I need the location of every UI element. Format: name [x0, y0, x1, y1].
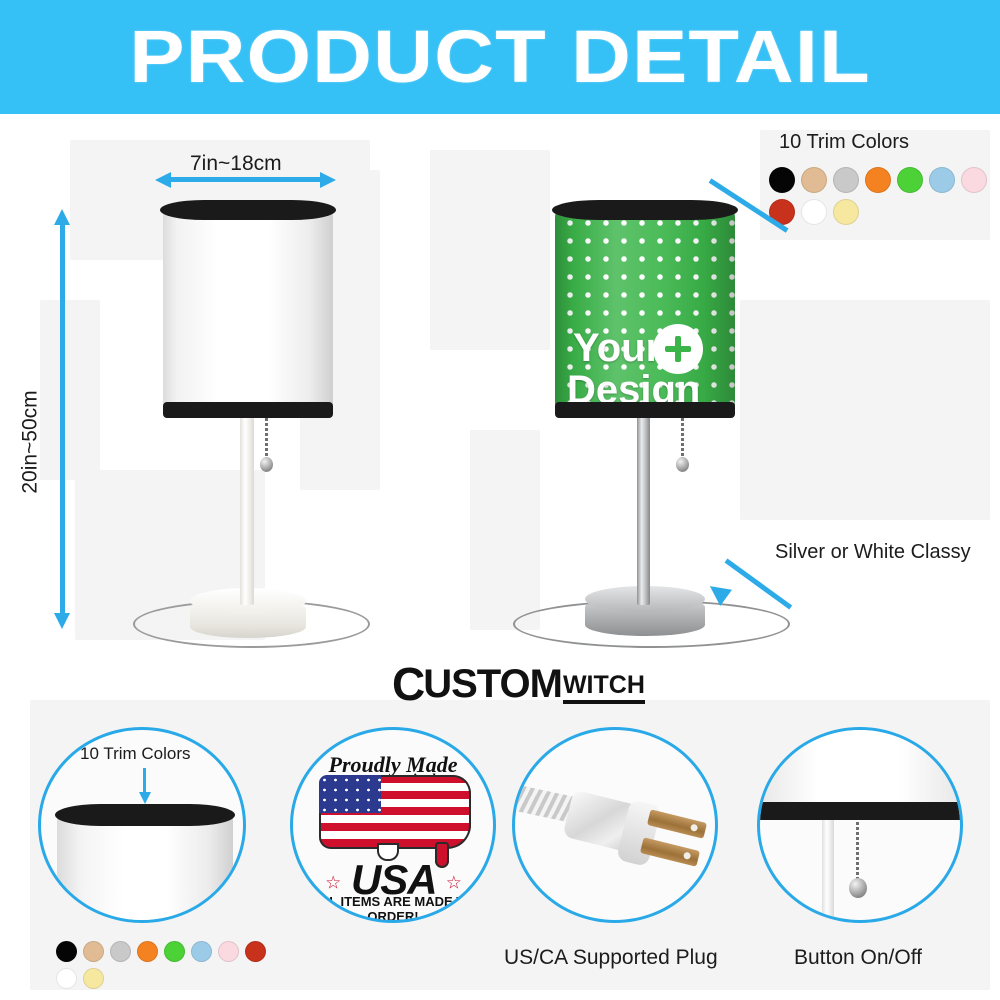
trim-swatch-gray[interactable]: [110, 941, 131, 962]
lamp-shade-trim-bottom: [555, 402, 735, 418]
trim-swatch-light-blue[interactable]: [191, 941, 212, 962]
plug-prong-upper: [647, 809, 707, 839]
trim-swatch-green[interactable]: [164, 941, 185, 962]
lamp-shade-trim-top: [552, 200, 738, 220]
trim-swatch-white[interactable]: [56, 968, 77, 989]
button-pull-chain[interactable]: [856, 822, 859, 884]
lamp-shade: Your Design: [555, 208, 735, 413]
logo-c-mark: C: [392, 664, 423, 704]
logo-secondary-text: WITCH: [563, 671, 645, 704]
trim-swatch-pink[interactable]: [961, 167, 987, 193]
lamp-pole: [637, 415, 650, 605]
trim-closeup-trim: [55, 804, 235, 826]
trim-swatch-yellow[interactable]: [833, 199, 859, 225]
trim-colors-bottom-label: 10 Trim Colors: [80, 744, 191, 764]
lamp-shade-trim-bottom: [163, 402, 333, 418]
usa-flag-canton: [319, 775, 381, 813]
callout-plug: [512, 727, 718, 923]
button-pull-chain-ball[interactable]: [849, 878, 867, 898]
base-finish-arrow: [708, 552, 808, 608]
plug-prong-hole: [683, 852, 691, 860]
trim-swatch-light-blue[interactable]: [929, 167, 955, 193]
pull-chain[interactable]: [681, 418, 684, 462]
trim-swatch-orange[interactable]: [137, 941, 158, 962]
button-closeup-trim: [757, 802, 963, 820]
trim-swatch-gray[interactable]: [833, 167, 859, 193]
logo-primary-text: USTOM: [423, 664, 562, 704]
lamp-pole: [240, 415, 254, 605]
usa-badge: Proudly Made in the ☆ USA ☆ ALL ITEMS AR…: [293, 730, 493, 920]
lamp-white: [0, 0, 400, 660]
usa-subtitle: ALL ITEMS ARE MADE TO ORDER!: [293, 894, 493, 923]
lamp-shade-trim-top: [160, 200, 336, 220]
button-label: Button On/Off: [794, 946, 922, 970]
trim-swatch-tan[interactable]: [83, 941, 104, 962]
lamp-shade-surface: [163, 208, 333, 413]
trim-swatch-green[interactable]: [897, 167, 923, 193]
plug-prong-lower: [640, 837, 700, 867]
product-detail-infographic: PRODUCT DETAIL 7in~18cm 20in~50cm 10 T: [0, 0, 1000, 1000]
button-closeup-pole: [822, 820, 834, 923]
plus-icon[interactable]: [653, 324, 703, 374]
usa-star-right: ☆: [446, 872, 461, 892]
lamp-shade: [163, 208, 333, 413]
plug-prong-hole: [690, 824, 698, 832]
plug-label: US/CA Supported Plug: [504, 946, 718, 970]
callout-made-in-usa: Proudly Made in the ☆ USA ☆ ALL ITEMS AR…: [290, 727, 496, 923]
trim-colors-bottom-arrow: [139, 768, 151, 804]
pull-chain-ball[interactable]: [260, 457, 273, 472]
trim-swatch-black[interactable]: [56, 941, 77, 962]
callout-button-onoff: [757, 727, 963, 923]
pull-chain[interactable]: [265, 418, 268, 462]
trim-colors-bottom-swatches[interactable]: [56, 941, 286, 989]
trim-swatch-yellow[interactable]: [83, 968, 104, 989]
trim-closeup-shade: [57, 818, 233, 923]
design-text-line1: Your: [555, 326, 735, 370]
trim-swatch-orange[interactable]: [865, 167, 891, 193]
plug-image: [515, 730, 715, 920]
trim-swatch-pink[interactable]: [218, 941, 239, 962]
usa-star-left: ☆: [325, 872, 340, 892]
usa-map-icon: [319, 775, 471, 849]
pull-chain-ball[interactable]: [676, 457, 689, 472]
brand-logo: C USTOM WITCH: [392, 664, 645, 704]
button-closeup-shade: [757, 727, 963, 804]
trim-swatch-red[interactable]: [245, 941, 266, 962]
